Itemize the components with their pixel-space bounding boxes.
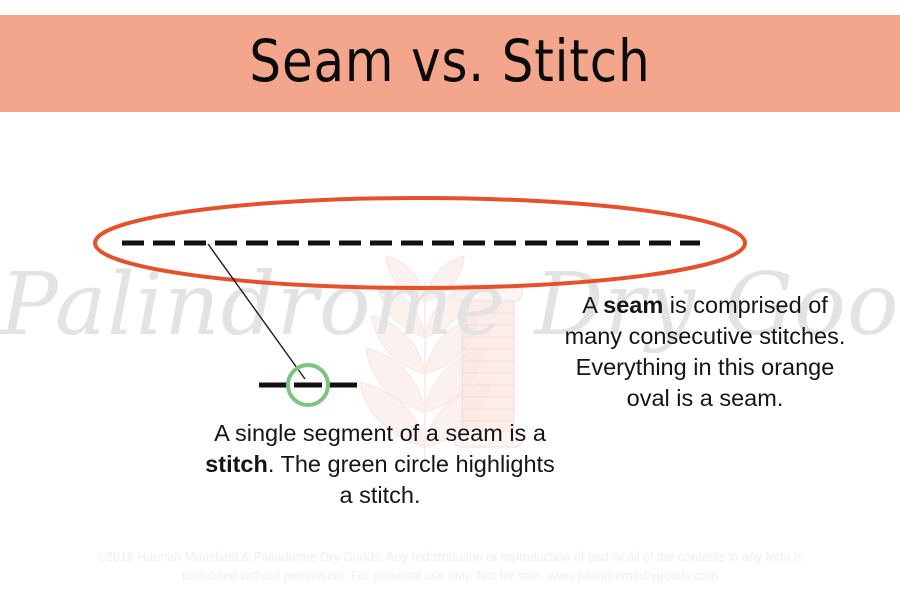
seam-keyword: seam [603, 292, 663, 318]
stitch-keyword: stitch [205, 451, 268, 477]
callout-leader-line [208, 244, 305, 379]
copyright-line-2: prohibited without permission. For perso… [0, 567, 900, 586]
stitch-callout-text: A single segment of a seam is a stitch. … [165, 418, 595, 511]
seam-line3: Everything in this orange [576, 354, 835, 380]
stitch-line1: A single segment of a seam is a [214, 420, 546, 446]
stitch-line3: a stitch. [340, 482, 421, 508]
stitch-line2-post: . The green circle highlights [268, 451, 555, 477]
infographic-canvas: Seam vs. Stitch [0, 0, 900, 600]
seam-line1-pre: A [582, 292, 603, 318]
copyright-footer: ©2016 Hannah Mansfield & Palindrome Dry … [0, 548, 900, 586]
seam-line1-post: is comprised of [663, 292, 828, 318]
seam-line2: many consecutive stitches. [565, 323, 846, 349]
seam-callout-text: A seam is comprised of many consecutive … [520, 290, 890, 414]
copyright-line-1: ©2016 Hannah Mansfield & Palindrome Dry … [0, 548, 900, 567]
seam-line4: oval is a seam. [627, 385, 784, 411]
